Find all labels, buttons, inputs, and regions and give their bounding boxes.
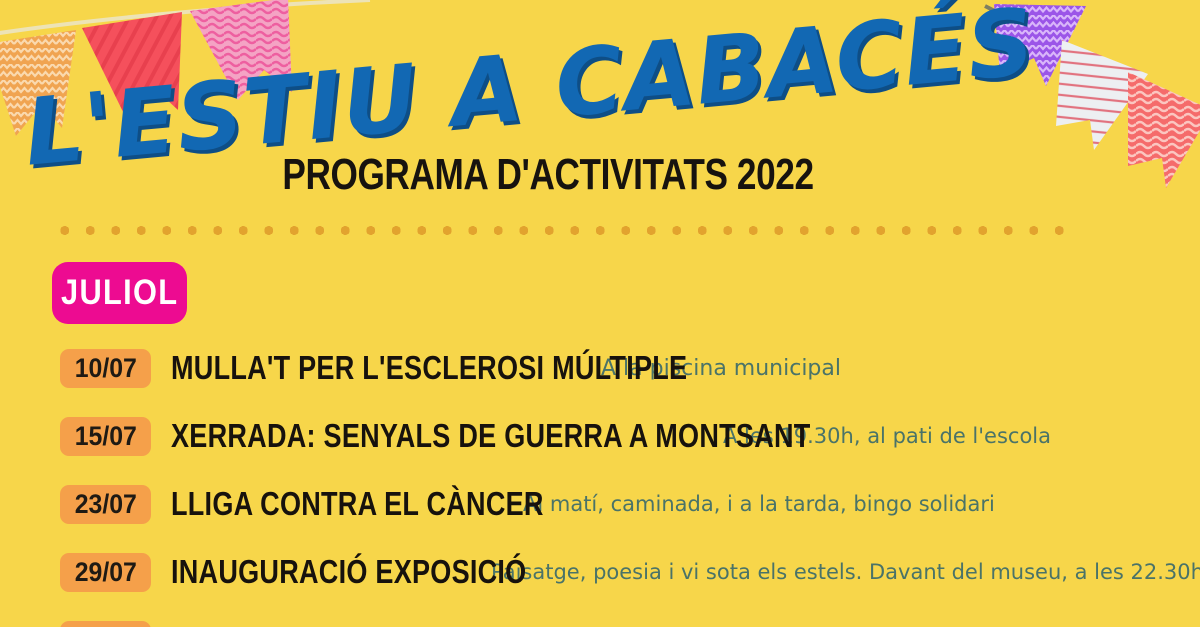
month-badge-juliol: JULIOL <box>52 262 187 324</box>
event-row: 15/07 XERRADA: SENYALS DE GUERRA A MONTS… <box>0 412 1200 460</box>
event-title: INAUGURACIÓ EXPOSICIÓ <box>171 553 433 591</box>
event-date-label: 29/07 <box>74 557 136 588</box>
event-date-badge: 15/07 <box>60 417 151 456</box>
poster-title-wrapper: L'ESTIU A CABACÉS <box>0 18 1060 158</box>
event-row-partial <box>0 616 1200 627</box>
event-title: XERRADA: SENYALS DE GUERRA A MONTSANT <box>171 417 624 455</box>
flag-white-line <box>1056 40 1148 150</box>
event-date-label: 15/07 <box>74 421 136 452</box>
event-title: LLIGA CONTRA EL CÀNCER <box>171 485 460 523</box>
event-row: 10/07 MULLA'T PER L'ESCLEROSI MÚLTIPLE A… <box>0 344 1200 392</box>
event-row: 29/07 INAUGURACIÓ EXPOSICIÓ Paisatge, po… <box>0 548 1200 596</box>
poster-canvas: L'ESTIU A CABACÉS PROGRAMA D'ACTIVITATS … <box>0 0 1200 627</box>
event-date-badge: 10/07 <box>60 349 151 388</box>
month-badge-label: JULIOL <box>61 273 178 313</box>
event-title: MULLA'T PER L'ESCLEROSI MÚLTIPLE <box>171 349 524 387</box>
event-description: Al matí, caminada, i a la tarda, bingo s… <box>523 492 995 516</box>
event-date-badge: 29/07 <box>60 553 151 592</box>
dotted-divider <box>52 226 1076 235</box>
event-description: Paisatge, poesia i vi sota els estels. D… <box>491 560 1200 584</box>
poster-subtitle: PROGRAMA D'ACTIVITATS 2022 <box>120 150 1080 200</box>
flag-coral-wave <box>1128 72 1200 188</box>
event-date-badge: 23/07 <box>60 485 151 524</box>
event-date-badge <box>60 621 151 627</box>
event-row: 23/07 LLIGA CONTRA EL CÀNCER Al matí, ca… <box>0 480 1200 528</box>
event-date-label: 10/07 <box>74 353 136 384</box>
event-date-label: 23/07 <box>74 489 136 520</box>
event-list: 10/07 MULLA'T PER L'ESCLEROSI MÚLTIPLE A… <box>0 344 1200 627</box>
